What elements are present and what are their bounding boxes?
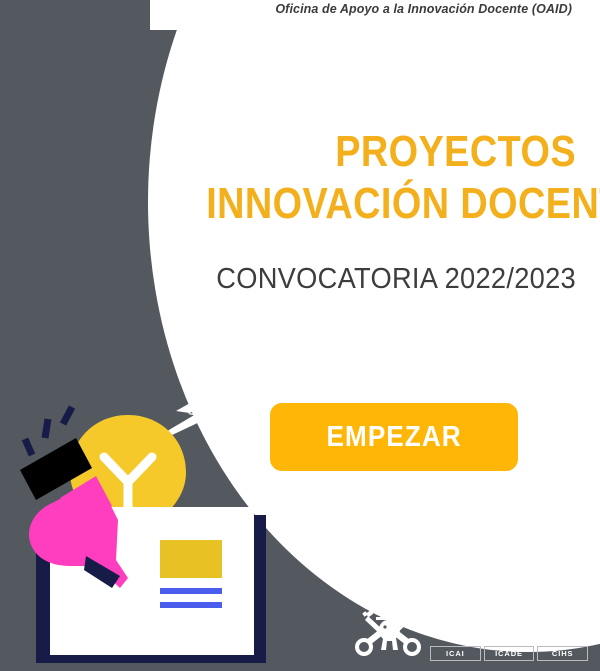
school-icai: ICAI [430, 646, 481, 661]
comillas-logo-text: COMILLAS UNIVERSIDAD PONTIFICIA ICAI ICA… [430, 594, 588, 661]
title-line-1: PROYECTOS [206, 126, 576, 178]
comillas-subtitle: UNIVERSIDAD PONTIFICIA [430, 627, 588, 642]
title-line-2: INNOVACIÓN DOCENTE [206, 178, 576, 230]
start-button-label: EMPEZAR [326, 421, 461, 454]
document-line-2 [160, 602, 222, 608]
comillas-schools: ICAI ICADE CIHS [430, 646, 588, 661]
comillas-logo: COMILLAS UNIVERSIDAD PONTIFICIA ICAI ICA… [352, 592, 588, 664]
school-icade: ICADE [484, 646, 535, 661]
school-cihs: CIHS [537, 646, 588, 661]
office-line: Oficina de Apoyo a la Innovación Docente… [275, 2, 572, 16]
start-button[interactable]: EMPEZAR [270, 403, 518, 471]
document-image-block [160, 540, 222, 578]
hero-illustration [0, 320, 300, 671]
comillas-crest-icon [352, 592, 424, 662]
poster-slide: Oficina de Apoyo a la Innovación Docente… [0, 0, 600, 671]
comillas-name: COMILLAS [430, 594, 585, 626]
document-line-1 [160, 588, 222, 594]
page-subtitle: CONVOCATORIA 2022/2023 [172, 262, 576, 296]
page-title: PROYECTOS INNOVACIÓN DOCENTE [146, 126, 576, 230]
